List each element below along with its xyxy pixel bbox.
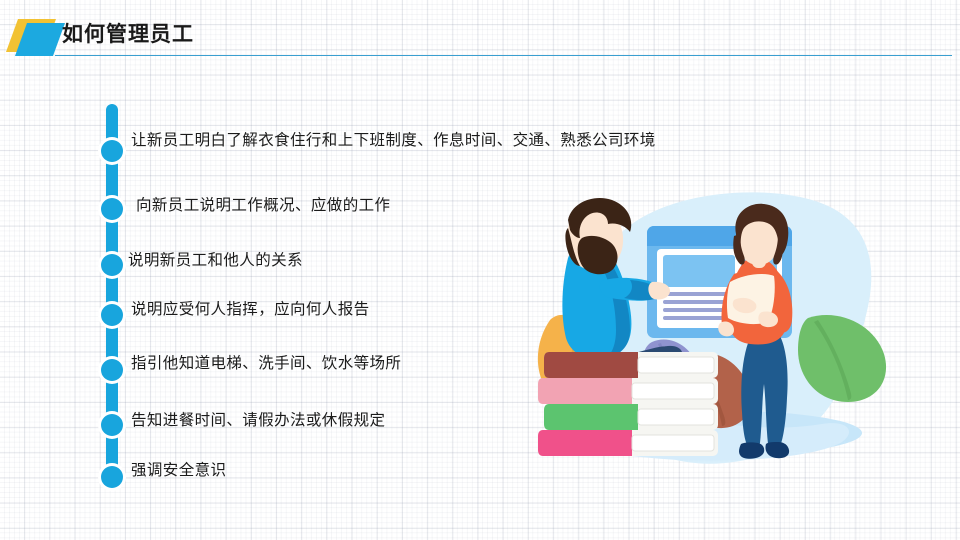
slide-header: 如何管理员工 [0,0,960,60]
timeline-node[interactable] [101,198,123,220]
bullet-item-text: 向新员工说明工作概况、应做的工作 [136,195,390,217]
bullet-item-text: 说明应受何人指挥，应向何人报告 [131,299,370,321]
parallelogram-logo-icon [12,19,68,53]
timeline-node[interactable] [101,359,123,381]
page-title: 如何管理员工 [62,20,194,50]
bullet-item-text: 指引他知道电梯、洗手间、饮水等场所 [131,353,401,375]
slide-canvas: 如何管理员工 让新员工明白了解衣食住行和上下班制度、作息时间、交通、熟悉公司环境… [0,0,960,540]
book-stack [538,352,718,456]
timeline-node[interactable] [101,414,123,436]
bullet-item-text: 说明新员工和他人的关系 [128,250,303,272]
timeline-rail [101,104,123,487]
bullet-item-text: 强调安全意识 [131,460,226,482]
workplace-onboarding-illustration [512,186,942,492]
timeline-node[interactable] [101,304,123,326]
timeline-node[interactable] [101,254,123,276]
timeline-node[interactable] [101,140,123,162]
bullet-item-text: 让新员工明白了解衣食住行和上下班制度、作息时间、交通、熟悉公司环境 [131,130,656,152]
timeline-node[interactable] [101,466,123,488]
header-divider [55,55,952,56]
bullet-item-text: 告知进餐时间、请假办法或休假规定 [131,410,385,432]
